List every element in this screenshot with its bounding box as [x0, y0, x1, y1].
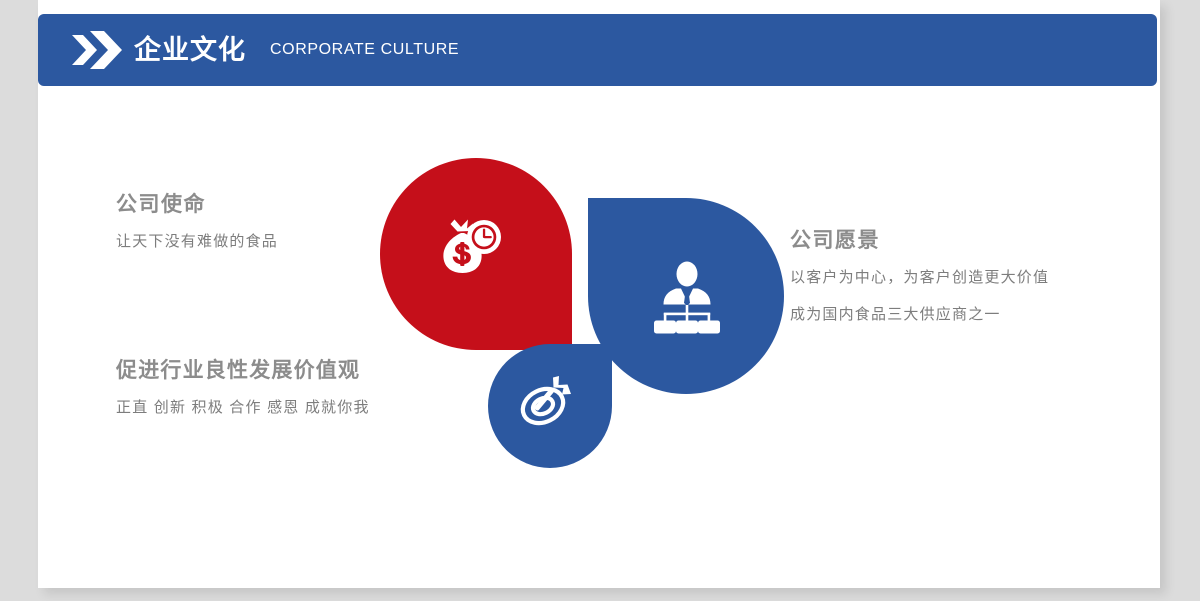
petal-vision[interactable] — [588, 198, 784, 394]
petal-mission[interactable] — [380, 158, 572, 350]
target-dart-icon — [517, 376, 573, 430]
vision-line-2: 成为国内食品三大供应商之一 — [790, 304, 1049, 327]
header-title-en: CORPORATE CULTURE — [270, 42, 459, 58]
header-bar: 企业文化 CORPORATE CULTURE — [38, 14, 1157, 86]
text-block-mission: 公司使命 让天下没有难做的食品 — [116, 192, 278, 254]
text-block-values: 促进行业良性发展价值观 正直 创新 积极 合作 感恩 成就你我 — [116, 358, 370, 420]
slide-canvas: 企业文化 CORPORATE CULTURE — [38, 0, 1160, 588]
double-chevron-right-icon — [70, 28, 130, 72]
vision-line-1: 以客户为中心，为客户创造更大价值 — [790, 267, 1049, 290]
values-line-1: 正直 创新 积极 合作 感恩 成就你我 — [116, 397, 370, 420]
petal-values[interactable] — [488, 344, 612, 468]
vision-heading: 公司愿景 — [790, 228, 1049, 253]
money-bag-clock-icon — [437, 216, 501, 278]
mission-line-1: 让天下没有难做的食品 — [116, 231, 278, 254]
mission-heading: 公司使命 — [116, 192, 278, 217]
values-heading: 促进行业良性发展价值观 — [116, 358, 370, 383]
text-block-vision: 公司愿景 以客户为中心，为客户创造更大价值 成为国内食品三大供应商之一 — [790, 228, 1049, 326]
header-title-cn: 企业文化 — [134, 37, 246, 64]
petal-cluster — [380, 150, 780, 450]
org-chart-person-icon — [651, 261, 723, 335]
